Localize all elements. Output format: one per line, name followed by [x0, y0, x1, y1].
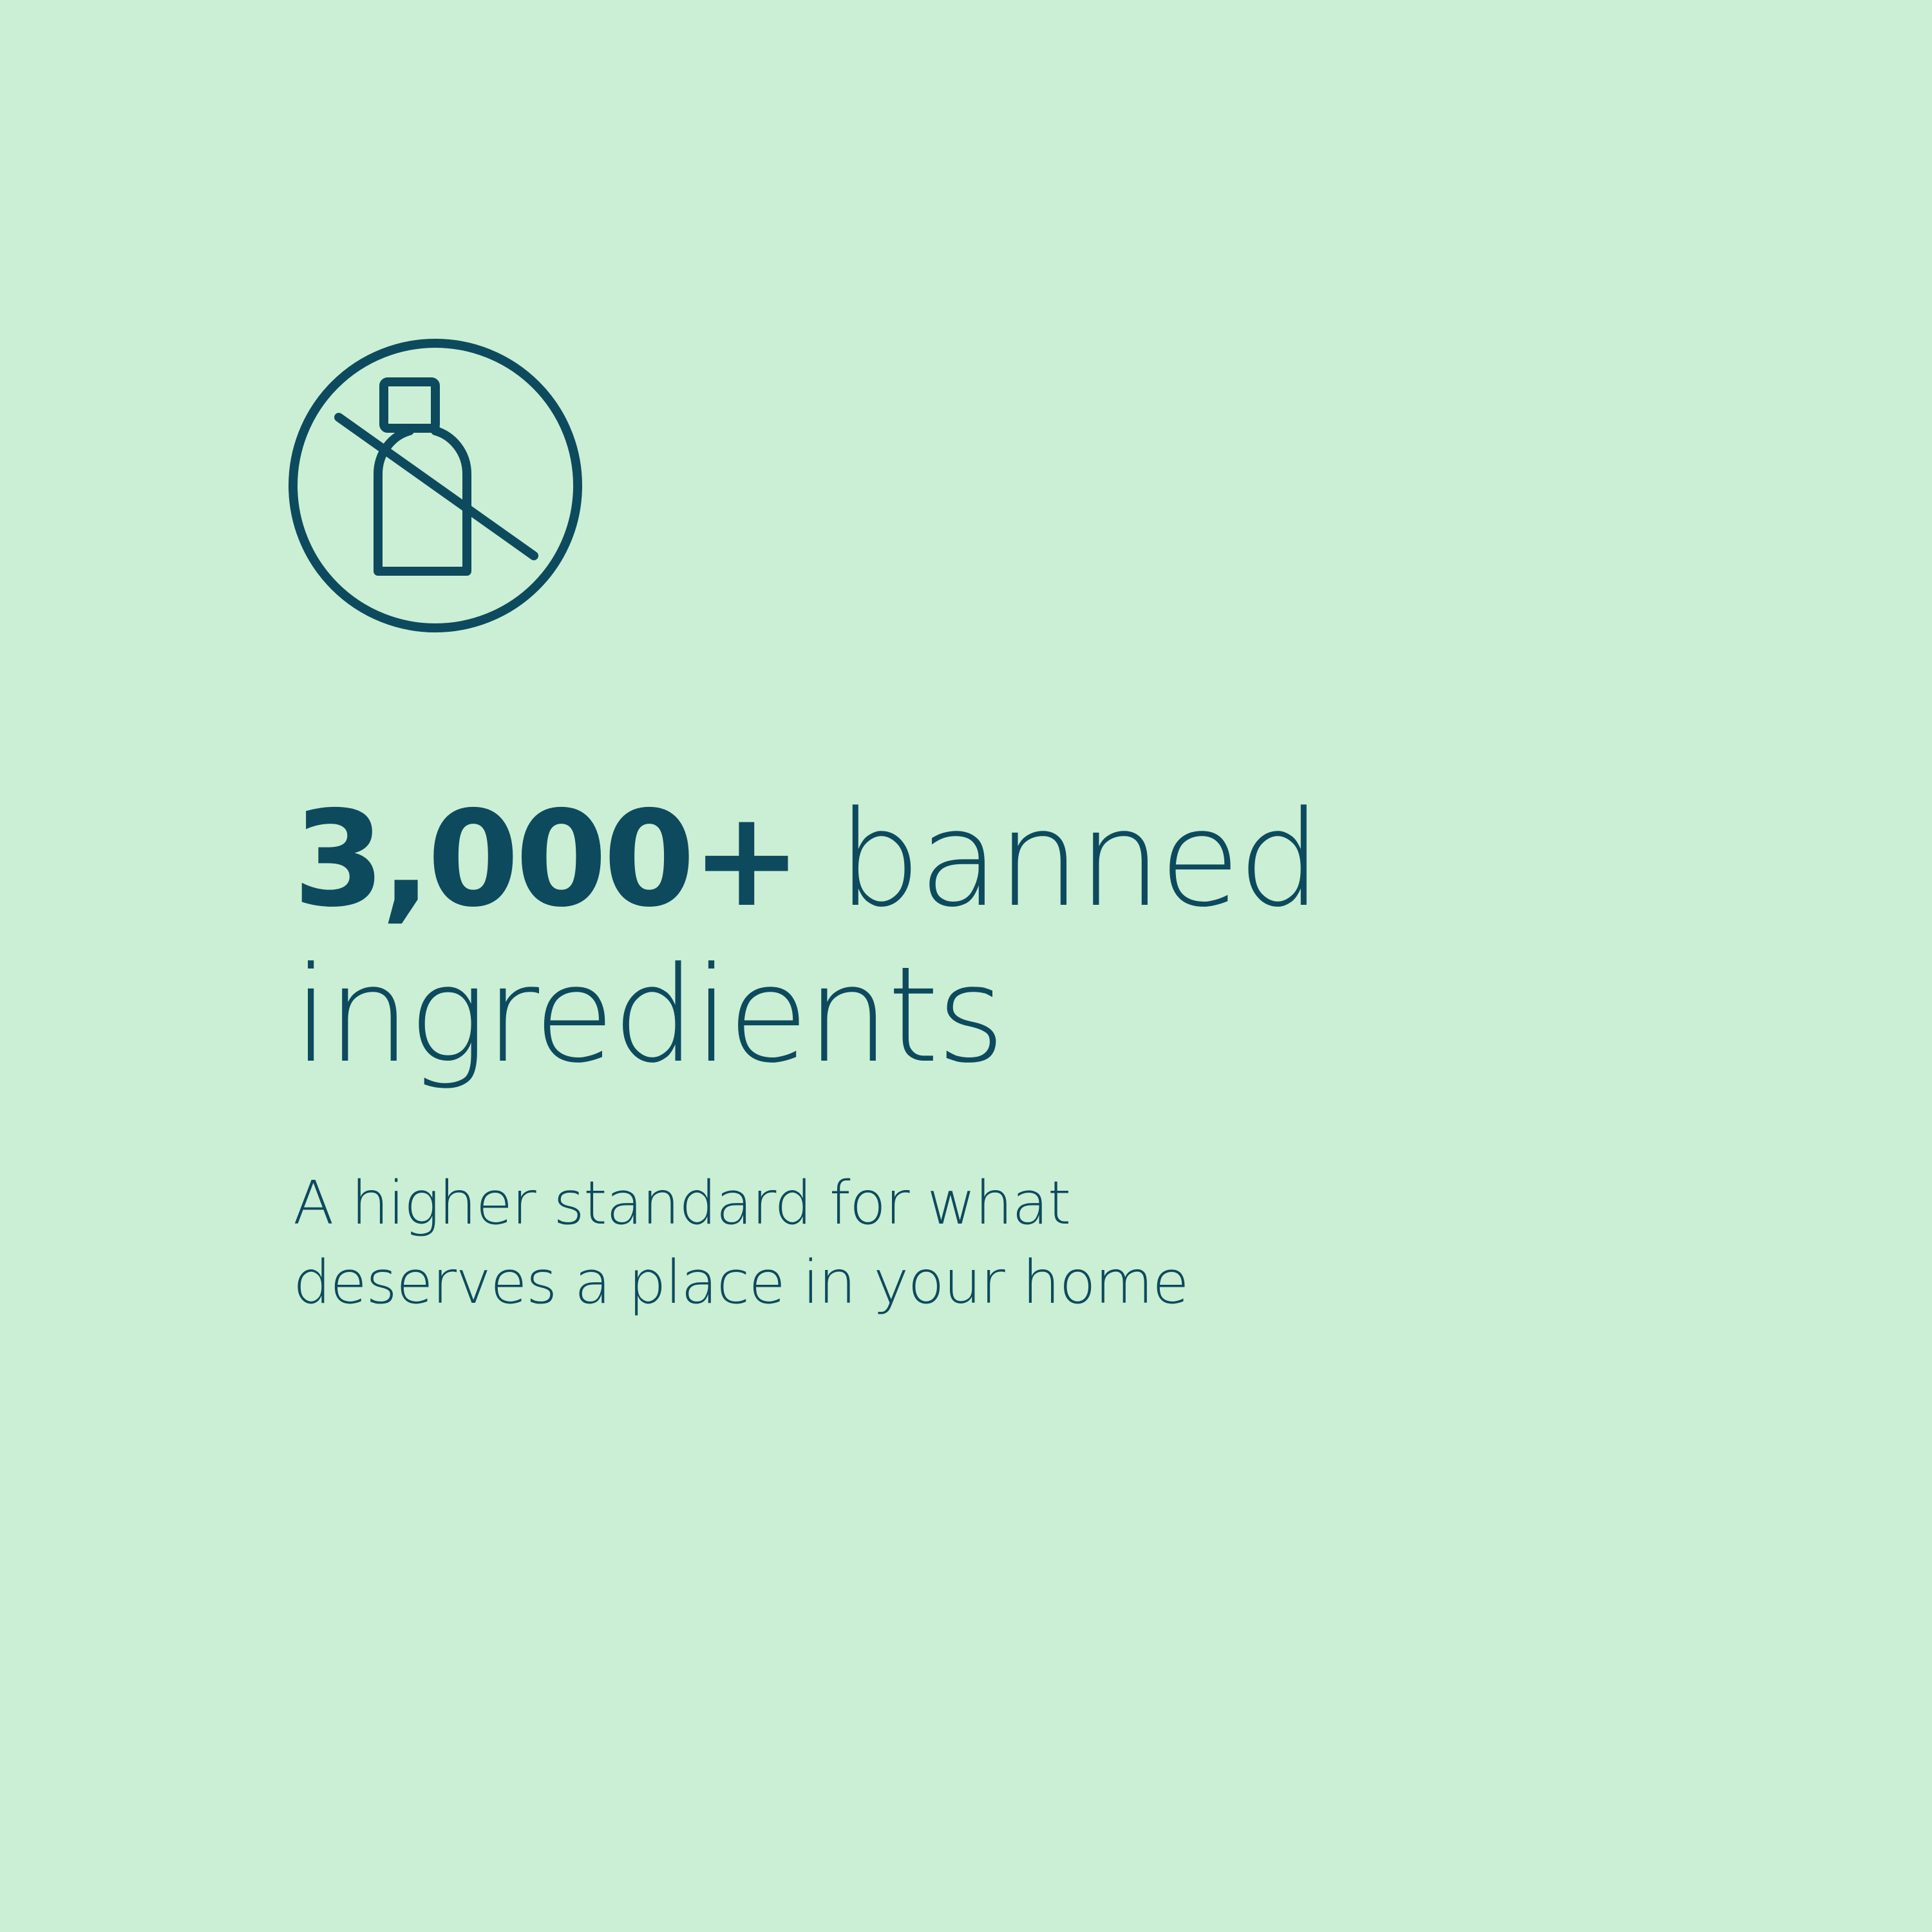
no-bottle-icon	[289, 339, 585, 635]
page-title: 3,000+ banned ingredients	[293, 782, 1658, 1094]
bottle-cap	[384, 382, 435, 428]
text-block: 3,000+ banned ingredients A higher stand…	[293, 782, 1658, 1321]
subtitle: A higher standard for what deserves a pl…	[293, 1094, 1658, 1322]
slash-line	[339, 417, 534, 556]
promo-card: 3,000+ banned ingredients A higher stand…	[0, 0, 1932, 1932]
no-bottle-icon-svg	[289, 339, 585, 635]
stat-value: 3,000+	[293, 783, 798, 936]
